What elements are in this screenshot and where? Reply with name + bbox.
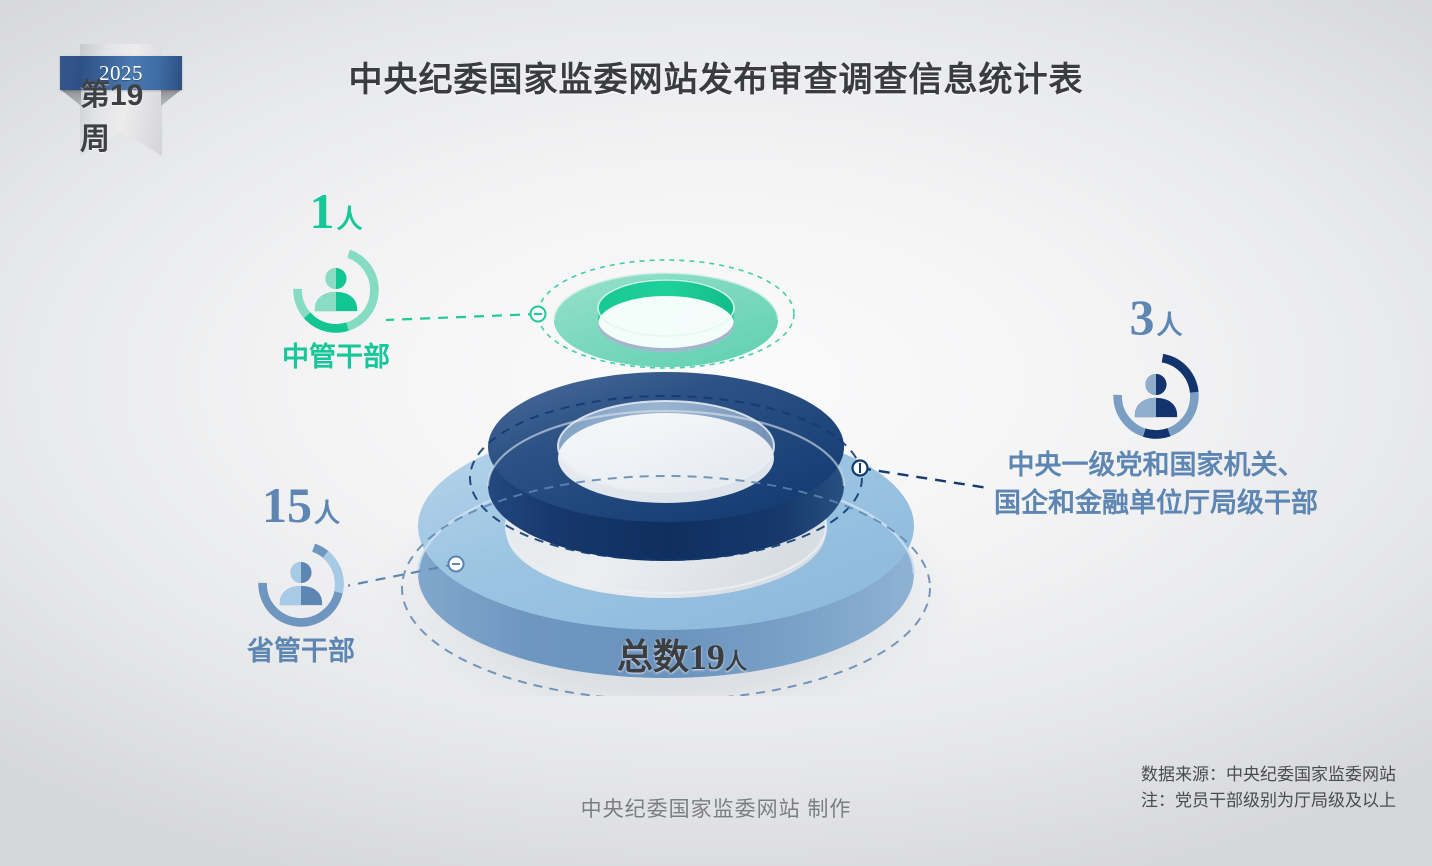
donut-accent [288,242,384,338]
infographic-canvas: 2025 第19周 中央纪委国家监委网站发布审查调查信息统计表 [0,0,1432,866]
person-donut-icon [253,536,349,632]
value-unit: 人 [1156,310,1182,340]
person-glyph [1135,374,1177,417]
ring-middle-central-bureau [488,372,844,561]
total-prefix: 总数 [617,636,689,677]
page-title: 中央纪委国家监委网站发布审查调查信息统计表 [0,52,1432,101]
total-unit: 人 [725,649,747,674]
callout-label-province-managed: 省管干部 [198,636,404,668]
note-text: 注：党员干部级别为厅局级及以上 [1141,788,1396,814]
person-glyph [280,562,322,605]
person-glyph [315,268,357,311]
callout-value-province-managed: 15人 [198,480,404,530]
data-source-text: 数据来源：中央纪委国家监委网站 [1141,762,1396,788]
callout-value-central-managed: 1人 [238,186,434,236]
callout-label-central-bureau-level-line1: 中央一级党和国家机关、 [926,450,1386,482]
callout-province-managed: 15人 省管干部 [198,480,404,668]
value-unit: 人 [314,498,340,528]
stacked-rings-diagram [348,196,988,696]
ring-top-central-managed [554,273,778,367]
donut-accent [258,541,345,628]
value-number: 15 [262,477,312,533]
total-label: 总数19人 [492,628,872,680]
callout-central-managed: 1人 中管干部 [238,186,434,374]
person-donut-icon [288,242,384,338]
person-donut-icon [1108,348,1204,444]
value-number: 1 [309,183,334,239]
total-value: 19 [689,637,725,677]
callout-central-bureau-level: 3人 中央一级党和国家机关、 国企和金融单位厅局级干部 [926,292,1386,520]
footer-notes: 数据来源：中央纪委国家监委网站 注：党员干部级别为厅局级及以上 [1141,762,1396,815]
donut-accent-2 [1108,348,1204,444]
value-unit: 人 [336,204,362,234]
callout-label-central-bureau-level-line2: 国企和金融单位厅局级干部 [926,488,1386,520]
callout-value-central-bureau-level: 3人 [926,292,1386,342]
value-number: 3 [1129,289,1154,345]
callout-label-central-managed: 中管干部 [238,342,434,374]
